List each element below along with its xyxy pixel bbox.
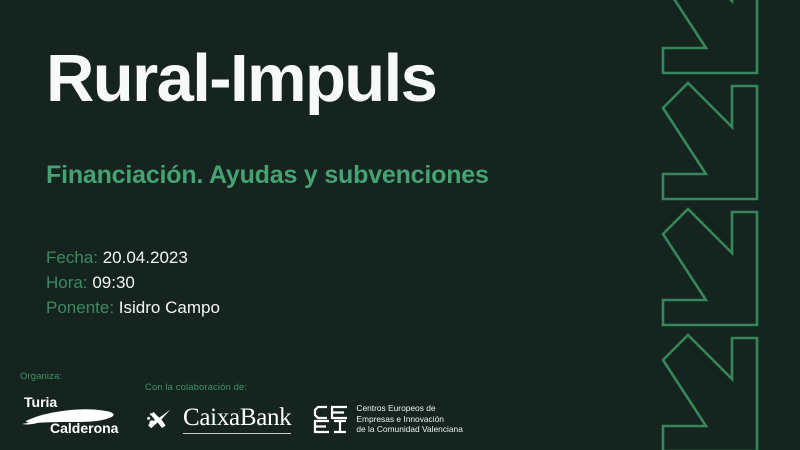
organizer-caption: Organiza: xyxy=(20,371,145,382)
arrow-down-right-outline-icon xyxy=(660,332,760,450)
detail-row-hora: Hora: 09:30 xyxy=(46,270,220,295)
page-title: Rural-Impuls xyxy=(46,44,436,114)
arrow-down-right-outline-icon xyxy=(660,0,760,76)
ceei-logo: Centros Europeos de Empresas e Innovació… xyxy=(313,402,462,436)
ceei-monogram-icon xyxy=(313,404,349,434)
detail-label: Hora: xyxy=(46,273,88,292)
ceei-text-line3: de la Comunidad Valenciana xyxy=(356,424,462,434)
collaborators-caption: Con la colaboración de: xyxy=(145,382,463,393)
ceei-text-line2: Empresas e Innovación xyxy=(356,414,444,424)
collaborator-logo-list: CaixaBank Ce xyxy=(145,402,463,436)
turia-calderona-logo: Turia Calderona xyxy=(20,391,123,436)
arrow-down-right-outline-icon xyxy=(660,80,760,202)
turia-logo-line2: Calderona xyxy=(50,420,119,436)
collaborators-block: Con la colaboración de: CaixaBank xyxy=(145,382,463,436)
event-details: Fecha: 20.04.2023 Hora: 09:30 Ponente: I… xyxy=(46,245,220,320)
footer-logos: Organiza: Turia Calderona Con la colabor… xyxy=(20,371,463,436)
poster-content: Rural-Impuls Financiación. Ayudas y subv… xyxy=(0,0,640,450)
detail-value: Isidro Campo xyxy=(119,298,220,317)
detail-value: 09:30 xyxy=(92,273,135,292)
caixabank-logo: CaixaBank xyxy=(145,402,291,436)
detail-row-ponente: Ponente: Isidro Campo xyxy=(46,295,220,320)
page-subtitle: Financiación. Ayudas y subvenciones xyxy=(46,161,489,190)
caixabank-wordmark: CaixaBank xyxy=(183,405,291,434)
caixabank-star-icon xyxy=(145,404,175,434)
detail-value: 20.04.2023 xyxy=(103,248,188,267)
ceei-logo-text: Centros Europeos de Empresas e Innovació… xyxy=(356,403,462,435)
ceei-text-line1: Centros Europeos de xyxy=(356,403,435,413)
detail-label: Fecha: xyxy=(46,248,98,267)
turia-logo-line1: Turia xyxy=(24,394,57,410)
organizer-block: Organiza: Turia Calderona xyxy=(20,371,145,436)
detail-label: Ponente: xyxy=(46,298,114,317)
decorative-arrow-column xyxy=(620,0,800,450)
arrow-down-right-outline-icon xyxy=(660,206,760,328)
detail-row-fecha: Fecha: 20.04.2023 xyxy=(46,245,220,270)
